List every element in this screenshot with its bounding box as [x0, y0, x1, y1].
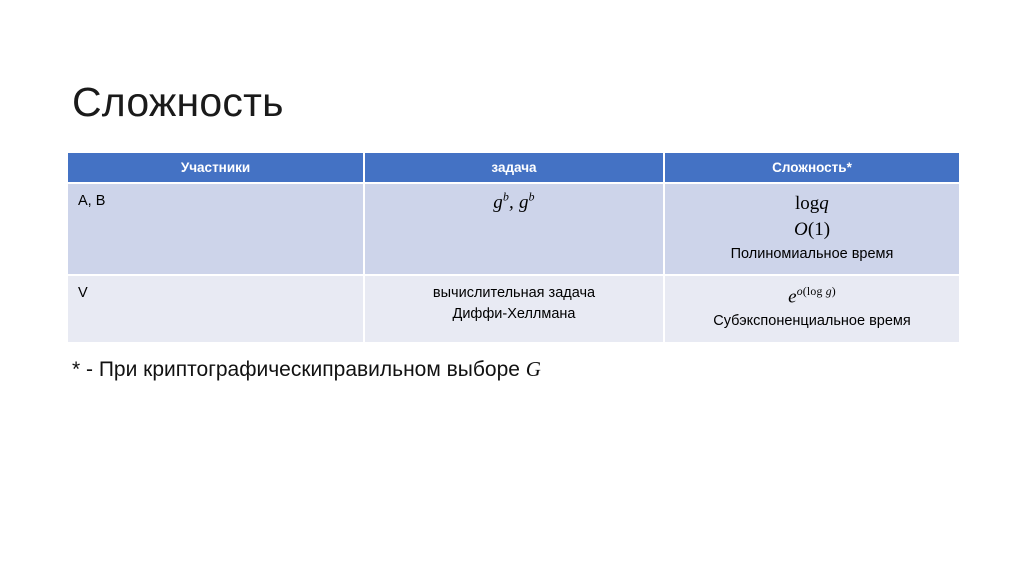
complexity-formula-row2: eo(log g) [675, 284, 949, 309]
task-separator: , [509, 192, 519, 213]
column-header-task: задача [365, 153, 663, 182]
complexity-exponent-open: (log [803, 285, 826, 298]
complexity-note-row1: Полиномиальное время [675, 245, 949, 265]
task-text-row2-line2: Диффи-Хеллмана [375, 304, 653, 325]
task-base-2: g [519, 192, 529, 213]
complexity-bigo-argument: (1) [808, 219, 830, 240]
cell-participants-row1: A, B [68, 184, 363, 274]
complexity-exp-base: e [788, 286, 797, 307]
slide-canvas: Сложность Участники задача Сложность* A,… [0, 0, 1024, 574]
page-title: Сложность [72, 79, 284, 126]
table-row: V вычислительная задача Диффи-Хеллмана e… [68, 276, 959, 342]
complexity-note-row2: Субэкспоненциальное время [675, 312, 949, 332]
column-header-participants: Участники [68, 153, 363, 182]
cell-participants-row2: V [68, 276, 363, 342]
table-body: A, B gb, gb logq O(1) Полиномиальное вре… [68, 184, 959, 342]
task-exponent-2: b [529, 191, 535, 204]
complexity-log-variable: q [819, 193, 829, 214]
complexity-bigo-symbol: O [794, 219, 808, 240]
cell-task-row1: gb, gb [365, 184, 663, 274]
table-row: A, B gb, gb logq O(1) Полиномиальное вре… [68, 184, 959, 274]
task-formula-row1: gb, gb [493, 192, 535, 213]
cell-complexity-row1: logq O(1) Полиномиальное время [665, 184, 959, 274]
cell-complexity-row2: eo(log g) Субэкспоненциальное время [665, 276, 959, 342]
complexity-exponent-group: o(log g) [797, 285, 836, 298]
table-header: Участники задача Сложность* [68, 153, 959, 182]
complexity-table: Участники задача Сложность* A, B gb, gb … [66, 151, 961, 344]
footnote: * - При криптографическиправильном выбор… [72, 356, 541, 383]
complexity-exponent-close: ) [832, 285, 836, 298]
column-header-complexity: Сложность* [665, 153, 959, 182]
complexity-bigo-line: O(1) [675, 218, 949, 243]
complexity-log-line: logq [675, 192, 949, 217]
task-text-row2-line1: вычислительная задача [375, 283, 653, 304]
complexity-log-label: log [795, 193, 819, 214]
footnote-text: * - При криптографическиправильном выбор… [72, 358, 526, 381]
task-base-1: g [493, 192, 503, 213]
cell-task-row2: вычислительная задача Диффи-Хеллмана [365, 276, 663, 342]
complexity-table-container: Участники задача Сложность* A, B gb, gb … [68, 153, 955, 342]
table-header-row: Участники задача Сложность* [68, 153, 959, 182]
footnote-variable: G [526, 357, 541, 381]
